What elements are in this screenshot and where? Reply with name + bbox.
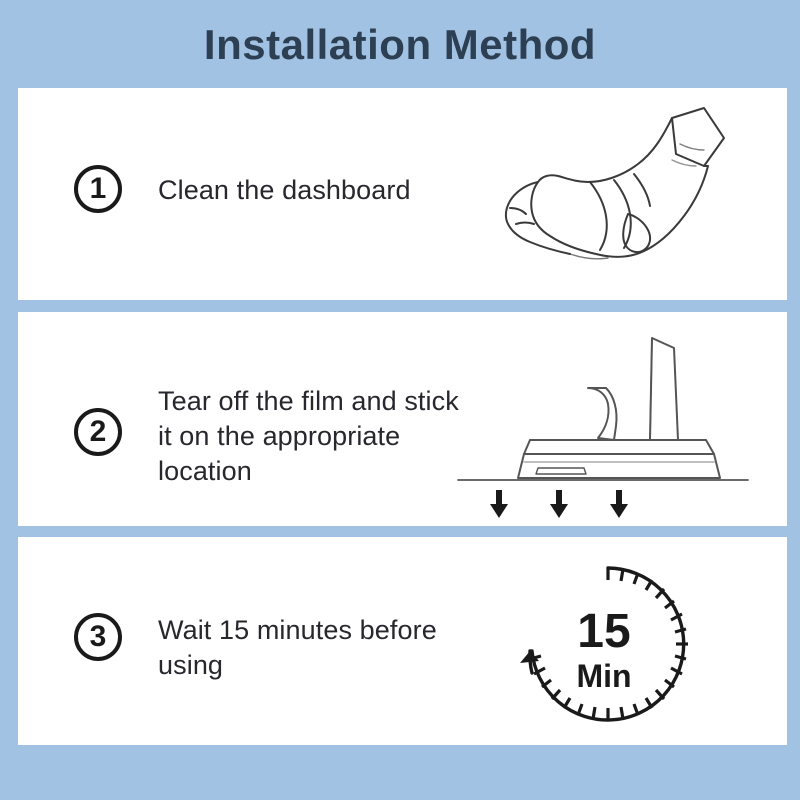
timer-value: 15 [577,605,630,658]
step-panel-1: 1 Clean the dashboard [18,88,787,300]
page-title: Installation Method [204,24,596,66]
step-number-badge-3: 3 [74,613,122,661]
installation-method-infographic: Installation Method 1 Clean the dashboar… [0,0,800,800]
step-panel-3: 3 Wait 15 minutes before using [18,537,787,745]
step-number-badge-1: 1 [74,165,122,213]
step-panel-2: 2 Tear off the film and stick it on the … [18,312,787,526]
step-number-1: 1 [90,174,107,204]
step-text-3: Wait 15 minutes before using [158,613,518,683]
step-number-2: 2 [90,417,107,447]
step-text-1: Clean the dashboard [158,173,498,208]
hand-wiping-cloth-icon [458,96,758,296]
step-number-badge-2: 2 [74,408,122,456]
title-band: Installation Method [0,0,800,88]
timer-unit: Min [576,658,631,694]
step-number-3: 3 [90,622,107,652]
timer-icon: 15 Min [508,555,708,730]
phone-holder-press-down-icon [438,322,768,522]
